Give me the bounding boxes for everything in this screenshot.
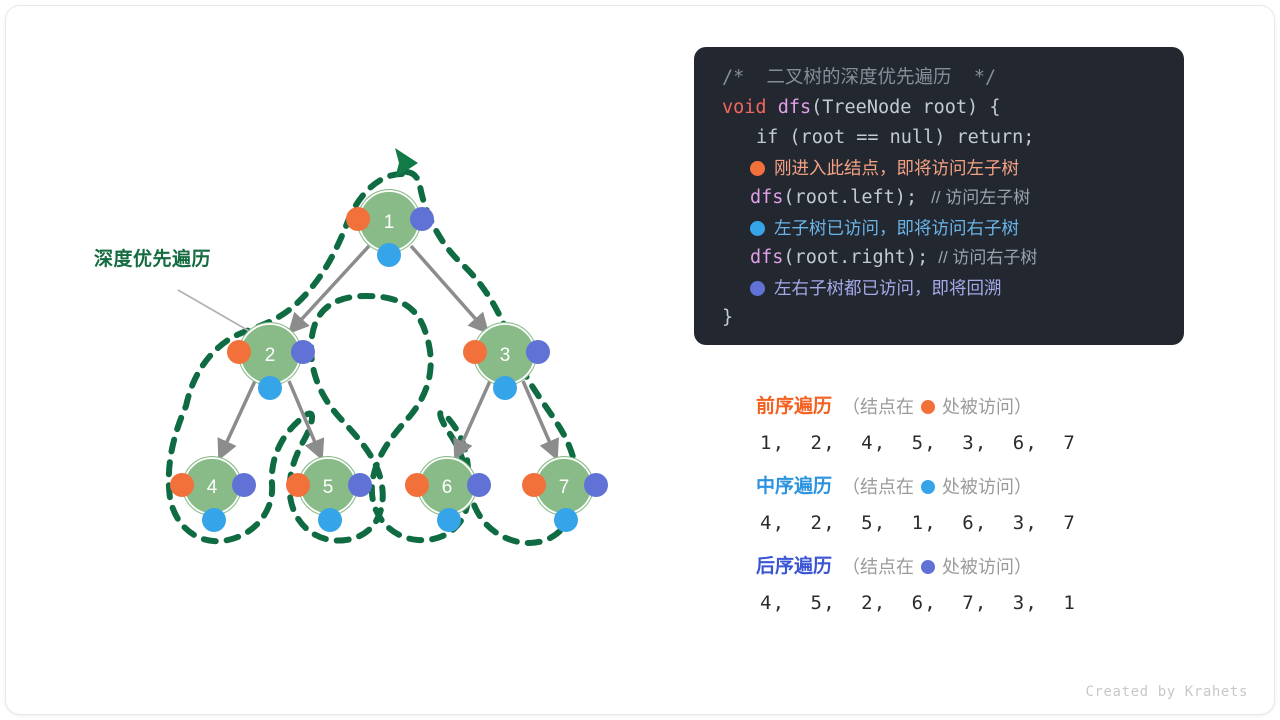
code-annotation-inorder-text: 左子树已访问，即将访问右子树 <box>774 213 1019 243</box>
code-line-call-right: dfs(root.right);// 访问右子树 <box>722 243 1158 273</box>
node-6-post-dot <box>467 473 491 497</box>
code-annotation-postorder-text: 左右子树都已访问，即将回溯 <box>774 273 1002 303</box>
watermark: Created by Krahets <box>1085 684 1248 700</box>
tree-node-2-label: 2 <box>265 345 276 366</box>
result-postorder: 后序遍历 （结点在 处被访问） 4, 5, 2, 6, 7, 3, 1 <box>756 552 1186 620</box>
node-3-in-dot <box>493 376 517 400</box>
code-comment-text: /* 二叉树的深度优先遍历 */ <box>722 63 996 93</box>
label-leader-line <box>178 290 249 331</box>
result-preorder-head: 前序遍历 （结点在 处被访问） <box>756 392 1186 422</box>
node-1-in-dot <box>377 243 401 267</box>
code-line-signature: void dfs(TreeNode root) { <box>722 93 1158 123</box>
code-comment-left: // 访问左子树 <box>931 183 1030 213</box>
result-preorder: 前序遍历 （结点在 处被访问） 1, 2, 4, 5, 3, 6, 7 <box>756 392 1186 460</box>
result-inorder-note-close: 处被访问） <box>942 472 1032 502</box>
code-panel: /* 二叉树的深度优先遍历 */ void dfs(TreeNode root)… <box>694 47 1184 345</box>
code-close-brace: } <box>722 303 733 333</box>
code-fn-dfs: dfs <box>767 93 812 123</box>
tree-node-5-label: 5 <box>323 477 334 498</box>
result-postorder-note-close: 处被访问） <box>942 552 1032 582</box>
tree-node-7[interactable]: 7 <box>522 456 608 532</box>
result-inorder-head: 中序遍历 （结点在 处被访问） <box>756 472 1186 502</box>
slide-card: 1 2 3 4 <box>6 6 1274 714</box>
result-inorder-note-open: （结点在 <box>842 472 914 502</box>
tree-node-3-label: 3 <box>500 345 511 366</box>
tree-node-4[interactable]: 4 <box>170 456 256 532</box>
traversal-results: 前序遍历 （结点在 处被访问） 1, 2, 4, 5, 3, 6, 7 中序遍历… <box>756 392 1186 632</box>
dfs-label: 深度优先遍历 <box>94 244 211 271</box>
node-1-post-dot <box>410 207 434 231</box>
node-4-in-dot <box>202 508 226 532</box>
code-fn-dfs-right: dfs <box>750 243 783 273</box>
code-line-close-brace: } <box>722 303 1158 333</box>
code-args-right: (root.right); <box>783 243 928 273</box>
page-root: 1 2 3 4 <box>0 0 1280 720</box>
result-postorder-note-open: （结点在 <box>842 552 914 582</box>
result-inorder-title: 中序遍历 <box>756 472 832 502</box>
result-inorder: 中序遍历 （结点在 处被访问） 4, 2, 5, 1, 6, 3, 7 <box>756 472 1186 540</box>
result-postorder-title: 后序遍历 <box>756 552 832 582</box>
preorder-dot-icon <box>750 161 765 176</box>
node-5-in-dot <box>318 508 342 532</box>
result-preorder-dot-icon <box>921 400 935 414</box>
code-annotation-inorder: 左子树已访问，即将访问右子树 <box>722 213 1158 243</box>
node-3-pre-dot <box>463 340 487 364</box>
result-inorder-sequence: 4, 2, 5, 1, 6, 3, 7 <box>760 506 1186 540</box>
node-2-in-dot <box>258 376 282 400</box>
code-nullcheck-text: if (root == null) return; <box>756 123 1034 153</box>
node-3-post-dot <box>526 340 550 364</box>
result-preorder-note-open: （结点在 <box>842 392 914 422</box>
node-6-pre-dot <box>405 473 429 497</box>
tree-node-1-label: 1 <box>384 212 395 233</box>
node-5-pre-dot <box>286 473 310 497</box>
result-preorder-note-close: 处被访问） <box>942 392 1032 422</box>
edge-3-7 <box>523 381 557 459</box>
inorder-dot-icon <box>750 221 765 236</box>
code-line-nullcheck: if (root == null) return; <box>722 123 1158 153</box>
result-preorder-sequence: 1, 2, 4, 5, 3, 6, 7 <box>760 426 1186 460</box>
code-line-call-left: dfs(root.left);// 访问左子树 <box>722 183 1158 213</box>
node-6-in-dot <box>437 508 461 532</box>
node-7-pre-dot <box>522 473 546 497</box>
node-1-pre-dot <box>346 207 370 231</box>
tree-node-6-label: 6 <box>442 477 453 498</box>
result-preorder-title: 前序遍历 <box>756 392 832 422</box>
code-signature-rest: (TreeNode root) { <box>811 93 1000 123</box>
node-2-pre-dot <box>227 340 251 364</box>
code-keyword-void: void <box>722 93 767 123</box>
code-line-comment: /* 二叉树的深度优先遍历 */ <box>722 63 1158 93</box>
node-7-in-dot <box>554 508 578 532</box>
code-comment-right: // 访问右子树 <box>938 243 1037 273</box>
edge-3-6 <box>455 381 490 459</box>
tree-node-7-label: 7 <box>559 477 570 498</box>
edge-2-4 <box>219 381 255 459</box>
result-postorder-sequence: 4, 5, 2, 6, 7, 3, 1 <box>760 586 1186 620</box>
node-4-post-dot <box>232 473 256 497</box>
tree-node-6[interactable]: 6 <box>405 456 491 532</box>
node-5-post-dot <box>348 473 372 497</box>
node-2-post-dot <box>291 340 315 364</box>
postorder-dot-icon <box>750 281 765 296</box>
tree-node-4-label: 4 <box>207 477 218 498</box>
code-fn-dfs-left: dfs <box>750 183 783 213</box>
code-annotation-postorder: 左右子树都已访问，即将回溯 <box>722 273 1158 303</box>
code-annotation-preorder-text: 刚进入此结点，即将访问左子树 <box>774 153 1019 183</box>
result-postorder-head: 后序遍历 （结点在 处被访问） <box>756 552 1186 582</box>
result-postorder-dot-icon <box>921 560 935 574</box>
binary-tree-diagram: 1 2 3 4 <box>66 126 686 576</box>
edge-2-5 <box>289 381 322 459</box>
code-annotation-preorder: 刚进入此结点，即将访问左子树 <box>722 153 1158 183</box>
result-inorder-dot-icon <box>921 480 935 494</box>
code-args-left: (root.left); <box>783 183 917 213</box>
node-4-pre-dot <box>170 473 194 497</box>
node-7-post-dot <box>584 473 608 497</box>
